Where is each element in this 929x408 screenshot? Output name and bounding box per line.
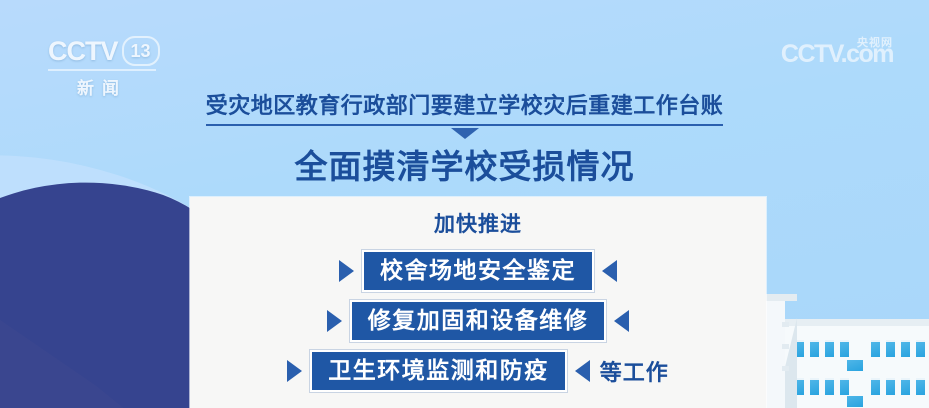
building-roof <box>779 319 929 326</box>
list-item-label: 修复加固和设备维修 <box>352 302 605 340</box>
window-row <box>871 340 925 357</box>
panel-item-list: 校舍场地安全鉴定 修复加固和设备维修 卫生环境监测和防疫 等工作 <box>190 246 766 396</box>
panel-title: 加快推进 <box>190 208 766 238</box>
triangle-left-icon <box>602 260 617 282</box>
window-icon <box>810 340 819 357</box>
window-icon <box>916 340 925 357</box>
window-icon <box>871 378 880 395</box>
tower-marker <box>782 366 789 371</box>
caret-down-icon <box>451 128 479 139</box>
window-icon <box>840 378 849 395</box>
cctv-logo-divider <box>48 69 156 71</box>
window-icon <box>886 378 895 395</box>
cctv-logo-top: CCTV 13 <box>48 36 160 66</box>
tower-marker <box>782 322 789 327</box>
headline-block: 受灾地区教育行政部门要建立学校灾后重建工作台账 <box>0 88 929 139</box>
tower-marker <box>782 344 789 349</box>
window-icon <box>847 396 863 407</box>
window-icon <box>840 340 849 357</box>
triangle-right-icon <box>339 260 354 282</box>
window-icon <box>825 340 834 357</box>
list-item-label: 卫生环境监测和防疫 <box>312 352 565 390</box>
cctv-wordmark: CCTV <box>48 38 118 65</box>
list-item: 卫生环境监测和防疫 等工作 <box>190 346 766 396</box>
subtitle-text: 全面摸清学校受损情况 <box>0 140 929 188</box>
window-icon <box>916 378 925 395</box>
headline-text: 受灾地区教育行政部门要建立学校灾后重建工作台账 <box>206 88 724 126</box>
list-item-label: 校舍场地安全鉴定 <box>364 252 592 290</box>
broadcast-graphic-stage: CCTV 13 新闻 央视网 CCTV.com 受灾地区教育行政部门要建立学校灾… <box>0 0 929 408</box>
triangle-right-icon <box>327 310 342 332</box>
list-item-suffix: 等工作 <box>600 355 669 387</box>
window-icon <box>901 340 910 357</box>
triangle-right-icon <box>287 360 302 382</box>
triangle-left-icon <box>614 310 629 332</box>
window-icon <box>825 378 834 395</box>
navy-wedge-shape <box>0 258 210 408</box>
list-item: 修复加固和设备维修 <box>190 296 766 346</box>
cctv-com-watermark: 央视网 CCTV.com <box>781 42 893 67</box>
window-icon <box>847 360 863 371</box>
window-row <box>795 340 849 357</box>
school-building-illustration <box>739 278 929 408</box>
content-panel: 加快推进 校舍场地安全鉴定 修复加固和设备维修 卫生环境监测和防疫 等工作 <box>190 197 766 408</box>
window-icon <box>810 378 819 395</box>
building-main-block <box>783 326 929 408</box>
window-icon <box>901 378 910 395</box>
channel-number-badge: 13 <box>122 36 160 66</box>
watermark-cn-text: 央视网 <box>857 34 893 50</box>
window-icon <box>886 340 895 357</box>
window-row <box>795 378 849 395</box>
window-icon <box>871 340 880 357</box>
list-item: 校舍场地安全鉴定 <box>190 246 766 296</box>
triangle-left-icon <box>575 360 590 382</box>
window-row <box>871 378 925 395</box>
